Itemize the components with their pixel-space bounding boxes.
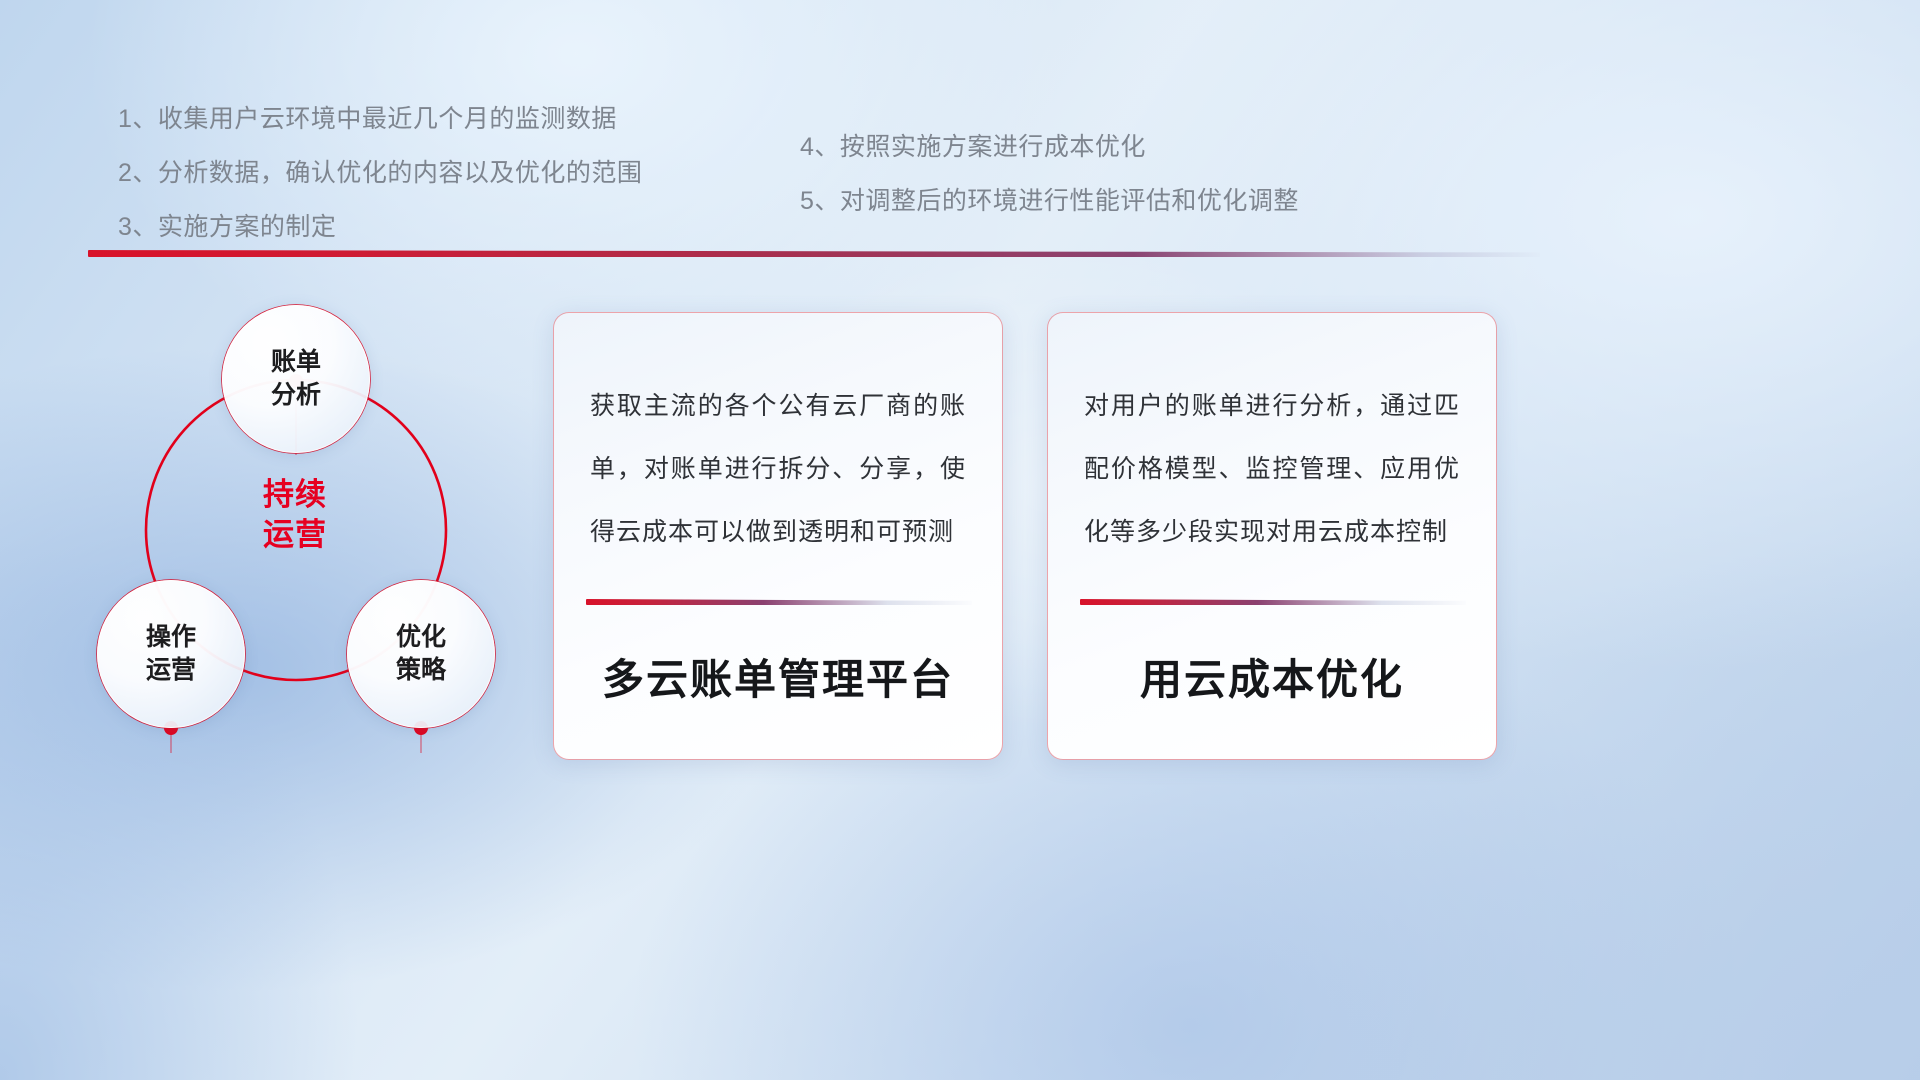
steps-left-column: 1、收集用户云环境中最近几个月的监测数据 2、分析数据，确认优化的内容以及优化的…: [118, 92, 642, 254]
venn-center-label-line1: 持续: [225, 475, 365, 515]
venn-center-label: 持续 运营: [225, 475, 365, 554]
card-divider-rule: [586, 599, 972, 605]
venn-bubble-label-line1: 操作: [146, 621, 196, 654]
venn-bubble-operations[interactable]: 操作 运营: [97, 580, 245, 728]
venn-center-label-line2: 运营: [225, 515, 365, 555]
list-item: 5、对调整后的环境进行性能评估和优化调整: [800, 174, 1299, 228]
venn-bubble-label-line1: 优化: [396, 621, 446, 654]
card-multicloud-billing[interactable]: 获取主流的各个公有云厂商的账单，对账单进行拆分、分享，使得云成本可以做到透明和可…: [553, 312, 1003, 760]
list-item: 3、实施方案的制定: [118, 200, 642, 254]
list-item: 1、收集用户云环境中最近几个月的监测数据: [118, 92, 642, 146]
card-body-text: 获取主流的各个公有云厂商的账单，对账单进行拆分、分享，使得云成本可以做到透明和可…: [590, 375, 966, 564]
venn-bubble-label-line2: 运营: [146, 654, 196, 687]
list-item: 2、分析数据，确认优化的内容以及优化的范围: [118, 146, 642, 200]
list-item: 4、按照实施方案进行成本优化: [800, 120, 1299, 174]
card-title: 用云成本优化: [1048, 646, 1496, 707]
venn-bubble-label-line1: 账单: [271, 346, 321, 379]
steps-right-column: 4、按照实施方案进行成本优化 5、对调整后的环境进行性能评估和优化调整: [800, 120, 1299, 228]
venn-bubble-label-line2: 分析: [271, 379, 321, 412]
card-title: 多云账单管理平台: [554, 646, 1002, 707]
card-divider-rule: [1080, 599, 1466, 605]
venn-bubble-label-line2: 策略: [396, 654, 446, 687]
venn-diagram: 账单 分析 操作 运营 优化 策略 持续 运营: [75, 285, 545, 765]
venn-bubble-optimization-strategy[interactable]: 优化 策略: [347, 580, 495, 728]
card-cloud-cost-optimization[interactable]: 对用户的账单进行分析，通过匹配价格模型、监控管理、应用优化等多少段实现对用云成本…: [1047, 312, 1497, 760]
venn-bubble-bill-analysis[interactable]: 账单 分析: [222, 305, 370, 453]
card-body-text: 对用户的账单进行分析，通过匹配价格模型、监控管理、应用优化等多少段实现对用云成本…: [1084, 375, 1460, 564]
